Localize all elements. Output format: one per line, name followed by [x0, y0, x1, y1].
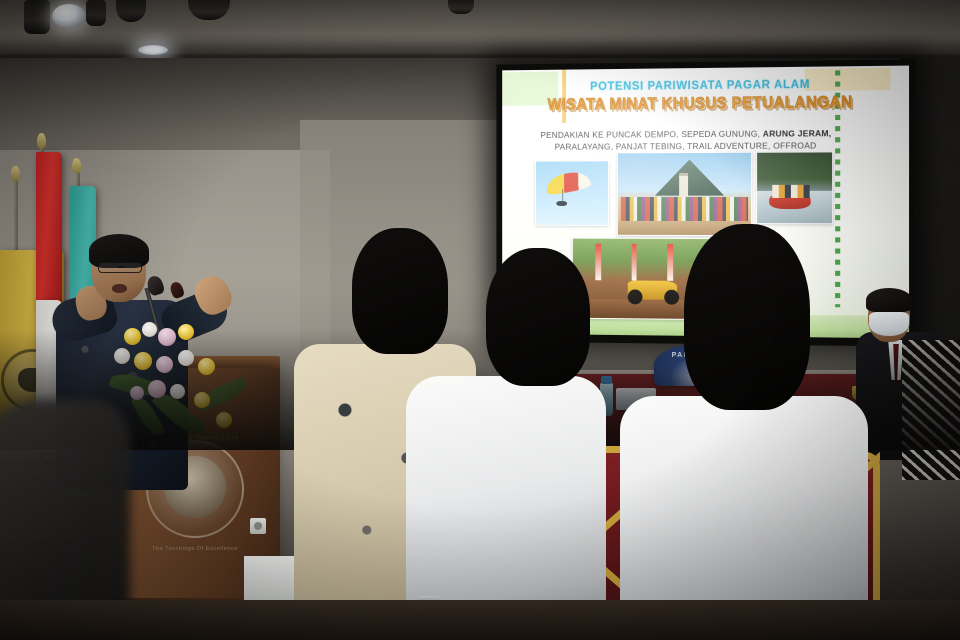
mountain-icon [655, 159, 724, 195]
paraglider-canopy-icon [545, 169, 592, 196]
buggy-wheel-icon [664, 289, 679, 304]
flower-icon [124, 328, 141, 345]
buggy-wheel-icon [628, 289, 643, 304]
mountain-biking-photo [617, 152, 752, 236]
flower-icon [158, 328, 176, 346]
flower-icon [130, 386, 144, 400]
attendee-patterned-batik [902, 340, 960, 480]
flag-finial-icon [37, 133, 46, 148]
slide-body-emphasis: ARUNG JERAM, [763, 128, 832, 138]
spotlight-icon [448, 0, 474, 14]
seminar-hall-scene: POTENSI PARIWISATA PAGAR ALAM WISATA MIN… [0, 0, 960, 640]
cyclist-crowd [621, 197, 749, 222]
flower-icon [156, 356, 173, 373]
track-marker-pole [596, 243, 601, 279]
audience-head-white-1 [486, 248, 590, 386]
flower-icon [170, 384, 185, 399]
floor [0, 600, 960, 640]
flower-icon [114, 348, 130, 364]
recessed-downlight-icon [138, 45, 168, 55]
speaker-mouth [112, 284, 127, 293]
eyeglasses-icon [98, 262, 142, 273]
flower-icon [178, 350, 194, 366]
indonesia-flag-red-band [36, 152, 62, 308]
track-marker-pole [667, 244, 672, 281]
flag-finial-icon [72, 158, 81, 173]
spotlight-icon [86, 0, 106, 26]
bottle-cap [601, 376, 612, 384]
podium-tagline: The Touchings Of Excellence [140, 546, 250, 552]
spotlight-icon [24, 0, 50, 34]
flower-icon [178, 324, 194, 340]
flower-icon [134, 352, 152, 370]
slide-body-text: PENDAKIAN KE PUNCAK DEMPO, SEPEDA GUNUNG… [527, 127, 845, 153]
track-marker-pole [631, 244, 636, 281]
flag-finial-icon [11, 166, 20, 181]
flower-icon [198, 358, 215, 375]
flower-icon [216, 412, 232, 428]
slide-subtitle: WISATA MINAT KHUSUS PETUALANGAN [541, 92, 860, 114]
flower-icon [142, 322, 157, 337]
face-mask-icon [869, 312, 909, 336]
audience-head-batik [352, 228, 448, 354]
slide-body-line-1: PENDAKIAN KE PUNCAK DEMPO, SEPEDA GUNUNG… [540, 129, 760, 140]
rafters [772, 185, 809, 198]
audience-head-white-2 [684, 224, 810, 410]
power-outlet-icon [250, 518, 266, 534]
slide-body-line-2: PARALAYANG, PANJAT TEBING, TRAIL ADVENTU… [555, 140, 817, 151]
paraglider-pilot-icon [556, 201, 567, 207]
white-water-rafting-photo [756, 151, 833, 224]
flower-icon [194, 392, 210, 408]
spotlight-icon [52, 4, 86, 28]
paragliding-photo [535, 160, 609, 225]
slide-title: POTENSI PARIWISATA PAGAR ALAM [547, 78, 856, 93]
flower-icon [148, 380, 166, 398]
seated-official-hair [866, 288, 912, 312]
